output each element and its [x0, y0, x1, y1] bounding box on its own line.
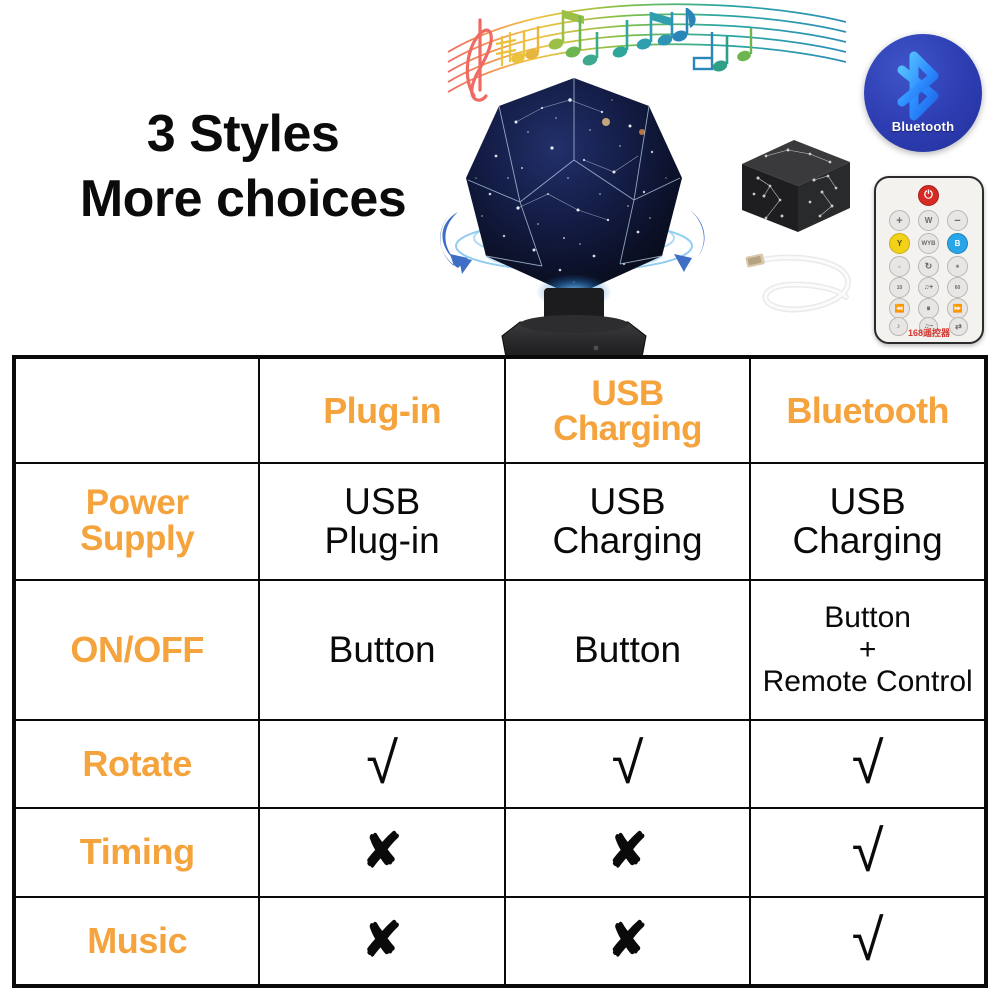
- cell-timing-usb-charging: ✘: [505, 808, 750, 896]
- row-label-power-supply-line1: Power: [20, 485, 254, 522]
- table-header-row: Plug-in USB Charging Bluetooth: [15, 358, 985, 463]
- bluetooth-badge: Bluetooth: [864, 34, 982, 152]
- rotate-arrow-left: [440, 210, 472, 274]
- row-label-timing: Timing: [15, 808, 259, 896]
- table-row-music: Music ✘ ✘ √: [15, 897, 985, 985]
- table-row-rotate: Rotate √ √ √: [15, 720, 985, 808]
- bluetooth-badge-label: Bluetooth: [864, 119, 982, 134]
- remote-button-timer-60min[interactable]: 60: [947, 277, 968, 298]
- check-icon: √: [755, 823, 980, 881]
- cell-rotate-plug-in: √: [259, 720, 504, 808]
- check-icon: √: [755, 912, 980, 970]
- header-cell-empty: [15, 358, 259, 463]
- header-cell-bluetooth: Bluetooth: [750, 358, 985, 463]
- check-icon: √: [264, 735, 499, 793]
- constellation-gift-box: [736, 128, 856, 238]
- header-usb-charging-line1: USB: [510, 376, 745, 411]
- cell-rotate-bluetooth: √: [750, 720, 985, 808]
- cell-timing-plug-in: ✘: [259, 808, 504, 896]
- usb-cable: [742, 245, 862, 320]
- cell-music-bluetooth: √: [750, 897, 985, 985]
- cell-music-usb-charging: ✘: [505, 897, 750, 985]
- hero-section: 3 Styles More choices: [0, 0, 1000, 355]
- remote-button-wyb[interactable]: WYB: [918, 233, 939, 254]
- row-label-power-supply-line2: Supply: [20, 521, 254, 558]
- remote-control: ⏻ + W − Y WYB B ☼ ↻ ☀ 10 ♫+ 60 ⏪ ⏸ ⏩ ♪ ♫…: [874, 176, 984, 344]
- cell-rotate-usb-charging: √: [505, 720, 750, 808]
- headline: 3 Styles More choices: [58, 108, 428, 226]
- cross-icon: ✘: [510, 828, 745, 876]
- remote-button-minus[interactable]: −: [947, 210, 968, 231]
- check-icon: √: [510, 735, 745, 793]
- product-comparison-page: 3 Styles More choices: [0, 0, 1000, 1000]
- headline-line-2: More choices: [58, 173, 428, 226]
- comparison-table-wrapper: Plug-in USB Charging Bluetooth Power Sup…: [12, 355, 988, 988]
- remote-button-warm-light[interactable]: ☀: [947, 256, 968, 277]
- cell-power-supply-bluetooth: USB Charging: [750, 463, 985, 580]
- header-cell-usb-charging: USB Charging: [505, 358, 750, 463]
- cross-icon: ✘: [264, 917, 499, 965]
- remote-button-y[interactable]: Y: [889, 233, 910, 254]
- row-label-music: Music: [15, 897, 259, 985]
- row-label-timing-text: Timing: [20, 833, 254, 871]
- bluetooth-icon: [864, 34, 982, 152]
- cell-power-supply-plug-in: USB Plug-in: [259, 463, 504, 580]
- cell-on-off-bluetooth: Button + Remote Control: [750, 580, 985, 720]
- table-row-power-supply: Power Supply USB Plug-in USB Charging US…: [15, 463, 985, 580]
- remote-button-timer-10min[interactable]: 10: [889, 277, 910, 298]
- header-plug-in-label: Plug-in: [264, 393, 499, 429]
- remote-button-play-pause[interactable]: ⏸: [918, 298, 939, 319]
- remote-model-label: 168遥控器: [874, 326, 984, 339]
- table-row-timing: Timing ✘ ✘ √: [15, 808, 985, 896]
- row-label-rotate: Rotate: [15, 720, 259, 808]
- cell-timing-bluetooth: √: [750, 808, 985, 896]
- star-projector-lamp: [424, 60, 724, 355]
- cross-icon: ✘: [264, 828, 499, 876]
- row-label-on-off: ON/OFF: [15, 580, 259, 720]
- remote-button-w[interactable]: W: [918, 210, 939, 231]
- remote-button-plus[interactable]: +: [889, 210, 910, 231]
- row-label-music-text: Music: [20, 922, 254, 960]
- remote-button-rotate[interactable]: ↻: [918, 256, 939, 277]
- cell-power-supply-usb-charging: USB Charging: [505, 463, 750, 580]
- check-icon: √: [755, 735, 980, 793]
- remote-button-soft-light[interactable]: ☼: [889, 256, 910, 277]
- header-bluetooth-label: Bluetooth: [755, 393, 980, 429]
- cell-on-off-usb-charging: Button: [505, 580, 750, 720]
- remote-power-button[interactable]: ⏻: [918, 185, 939, 206]
- header-cell-plug-in: Plug-in: [259, 358, 504, 463]
- row-label-rotate-text: Rotate: [20, 745, 254, 783]
- cell-music-plug-in: ✘: [259, 897, 504, 985]
- comparison-table: Plug-in USB Charging Bluetooth Power Sup…: [14, 357, 986, 986]
- row-label-power-supply: Power Supply: [15, 463, 259, 580]
- remote-button-previous[interactable]: ⏪: [889, 298, 910, 319]
- cell-on-off-plug-in: Button: [259, 580, 504, 720]
- remote-button-volume-up[interactable]: ♫+: [918, 277, 939, 298]
- remote-button-b[interactable]: B: [947, 233, 968, 254]
- header-usb-charging-line2: Charging: [510, 411, 745, 446]
- cross-icon: ✘: [510, 917, 745, 965]
- remote-button-next[interactable]: ⏩: [947, 298, 968, 319]
- row-label-on-off-text: ON/OFF: [20, 631, 254, 669]
- table-row-on-off: ON/OFF Button Button Button + Remote Con…: [15, 580, 985, 720]
- headline-line-1: 3 Styles: [58, 108, 428, 161]
